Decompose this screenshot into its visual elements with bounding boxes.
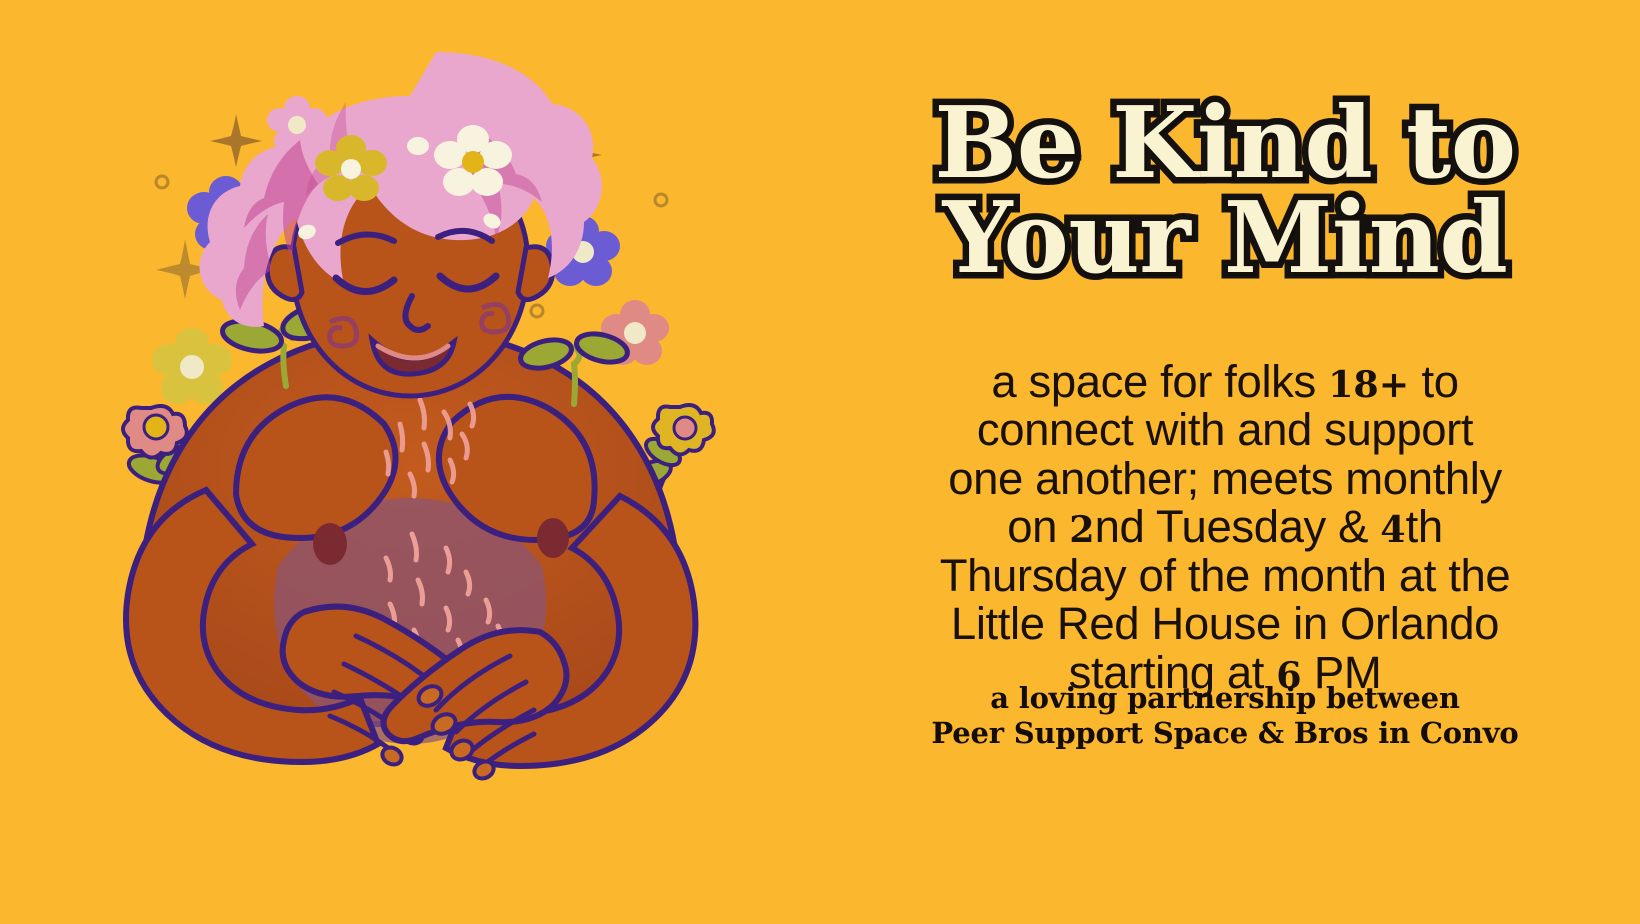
text-column: Be Kind to Your Mind a space for folks 1… [810,0,1640,924]
desc-1-a: a space for folks [991,356,1328,407]
title-line-2: Your Mind [810,191,1640,286]
ear-right [518,247,553,300]
nipple-right [537,518,569,558]
description-line-1: a space for folks 18+ to [810,357,1640,406]
nipple-left [313,523,347,565]
poster-canvas: Be Kind to Your Mind a space for folks 1… [0,0,1640,924]
description-line-2: connect with and support [810,406,1640,455]
description-line-5: Thursday of the month at the [810,551,1640,600]
desc-1-b: to [1409,356,1458,407]
event-description: a space for folks 18+ to connect with an… [810,357,1640,697]
illustration-panel [0,0,820,924]
partnership-line-1: a loving partnership between [810,681,1640,716]
partnership-credit: a loving partnership between Peer Suppor… [810,681,1640,752]
description-line-6: Little Red House in Orlando [810,600,1640,649]
age-requirement: 18+ [1328,363,1409,406]
ear-left [267,247,302,300]
meeting-ordinal-1: 2 [1069,508,1094,551]
partnership-line-2: Peer Support Space & Bros in Convo [810,716,1640,751]
self-hugging-figure-illustration [0,0,820,924]
description-line-4: on 2nd Tuesday & 4th [810,503,1640,552]
desc-4-c: th [1406,501,1443,552]
desc-4-b: nd Tuesday & [1095,501,1381,552]
meeting-ordinal-2: 4 [1380,508,1405,551]
description-line-3: one another; meets monthly [810,454,1640,503]
title-line-1: Be Kind to [810,96,1640,191]
page-title: Be Kind to Your Mind [810,96,1640,286]
desc-4-a: on [1007,501,1069,552]
